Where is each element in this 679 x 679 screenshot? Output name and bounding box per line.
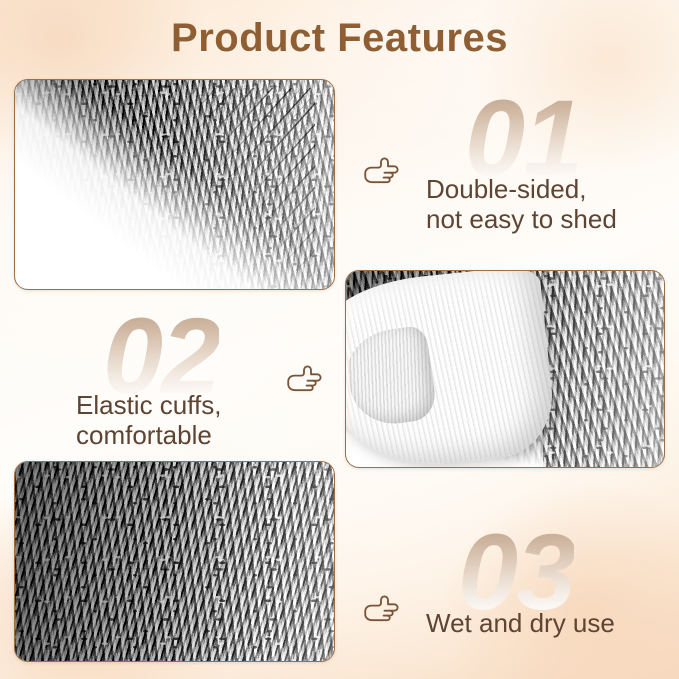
product-features-poster: Product Features 01 Double-sided, not ea…	[0, 0, 679, 679]
photo-texture-shag-chenille	[15, 462, 334, 661]
feature-photo-elastic-cuff	[345, 270, 665, 468]
feature-photo-double-sided	[14, 79, 335, 290]
photo-texture-elastic-cuff	[346, 271, 664, 467]
feature-block-elastic-cuff: 02 Elastic cuffs, comfortable	[18, 300, 338, 460]
page-title: Product Features	[0, 16, 679, 61]
pointing-hand-right-icon	[360, 592, 402, 628]
pointing-hand-right-icon	[360, 154, 402, 190]
feature-text-elastic-cuff: Elastic cuffs, comfortable	[76, 390, 221, 450]
fabric-shading-layer	[15, 462, 334, 661]
photo-texture-chenille-edge	[15, 80, 334, 289]
feature-text-wet-dry: Wet and dry use	[426, 608, 615, 638]
feature-photo-wet-dry	[14, 461, 335, 662]
feature-block-double-sided: 01 Double-sided, not easy to shed	[348, 96, 668, 256]
pointing-hand-right-icon	[283, 362, 325, 398]
feature-text-double-sided: Double-sided, not easy to shed	[426, 174, 617, 234]
feature-block-wet-dry: 03 Wet and dry use	[348, 512, 668, 662]
photo-white-background	[15, 80, 334, 289]
